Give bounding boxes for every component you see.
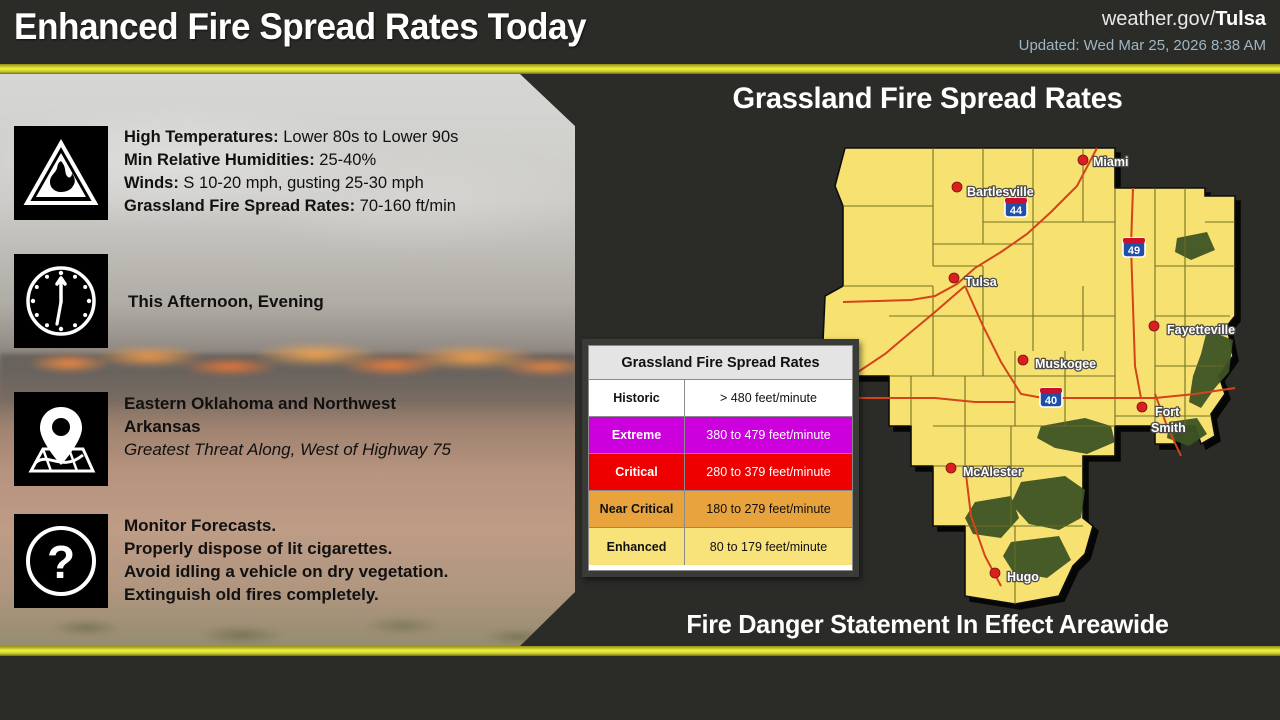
footer-bar: NATIONAL WEATHER SERVICE TULSA OKLAHOMA … [0,656,1280,720]
legend-category: Extreme [589,417,685,453]
infographic-root: Enhanced Fire Spread Rates Today weather… [0,0,1280,720]
city-label: Tulsa [965,275,998,289]
legend-category: Enhanced [589,528,685,565]
legend-panel: Grassland Fire Spread Rates Historic > 4… [582,339,859,577]
legend-row: Near Critical 180 to 279 feet/minute [589,491,852,528]
bullet-conditions: High Temperatures: Lower 80s to Lower 90… [14,126,458,220]
condition-value: 25-40% [315,151,376,169]
site-url-office: Tulsa [1215,8,1266,30]
header-bar: Enhanced Fire Spread Rates Today weather… [0,0,1280,64]
updated-timestamp: Updated: Wed Mar 25, 2026 8:38 AM [1019,37,1266,54]
svg-text:44: 44 [1010,205,1023,217]
question-mark-icon: ? [14,514,108,608]
condition-row: Min Relative Humidities: 25-40% [124,149,458,172]
safety-line: Avoid idling a vehicle on dry vegetation… [124,560,448,583]
condition-row: Grassland Fire Spread Rates: 70-160 ft/m… [124,195,458,218]
map-footer-statement: Fire Danger Statement In Effect Areawide [586,609,1270,640]
map-svg: 44 49 40 [815,126,1275,626]
legend-table: Grassland Fire Spread Rates Historic > 4… [588,345,853,571]
page-title: Enhanced Fire Spread Rates Today [14,6,586,48]
city-label: Fayetteville [1167,323,1235,337]
legend-category: Near Critical [589,491,685,527]
condition-label: Grassland Fire Spread Rates: [124,197,355,215]
condition-row: High Temperatures: Lower 80s to Lower 90… [124,126,458,149]
city-label: Fort [1155,405,1180,419]
site-url-prefix: weather.gov/ [1102,8,1215,30]
bullet-safety: ? Monitor Forecasts. Properly dispose of… [14,514,448,608]
city-label: Miami [1093,155,1128,169]
map-pin-icon [14,392,108,486]
legend-value: 380 to 479 feet/minute [685,417,852,453]
legend-row: Extreme 380 to 479 feet/minute [589,417,852,454]
safety-line: Properly dispose of lit cigarettes. [124,537,448,560]
interstate-shield-44: 44 [1005,198,1027,217]
location-note: Greatest Threat Along, West of Highway 7… [124,438,451,461]
safety-line: Extinguish old fires completely. [124,583,448,606]
bullet-timing: This Afternoon, Evening [14,254,324,348]
condition-row: Winds: S 10-20 mph, gusting 25-30 mph [124,172,458,195]
condition-value: Lower 80s to Lower 90s [279,128,459,146]
clock-icon [14,254,108,348]
map-title: Grassland Fire Spread Rates [586,82,1270,116]
divider-top [0,64,1280,74]
legend-value: 280 to 379 feet/minute [685,454,852,490]
forecast-map: 44 49 40 [815,126,1275,626]
svg-text:40: 40 [1045,395,1057,407]
legend-row: Enhanced 80 to 179 feet/minute [589,528,852,565]
legend-category: Critical [589,454,685,490]
interstate-shield-40: 40 [1040,388,1062,407]
timing-text-block: This Afternoon, Evening [128,290,324,313]
timing-label: This Afternoon, Evening [128,290,324,313]
site-url: weather.gov/Tulsa [1102,8,1266,31]
safety-line: Monitor Forecasts. [124,514,448,537]
svg-text:?: ? [47,536,75,588]
legend-row: Critical 280 to 379 feet/minute [589,454,852,491]
city-label: Muskogee [1035,357,1096,371]
location-line-1: Eastern Oklahoma and Northwest [124,392,451,415]
left-photo-panel: High Temperatures: Lower 80s to Lower 90… [0,74,575,646]
legend-value: 80 to 179 feet/minute [685,528,852,565]
conditions-text-block: High Temperatures: Lower 80s to Lower 90… [124,126,458,218]
condition-label: Winds: [124,174,179,192]
city-label: Bartlesville [967,185,1034,199]
city-label: McAlester [963,465,1023,479]
legend-value: > 480 feet/minute [685,380,852,416]
city-label: Smith [1151,421,1186,435]
interstate-shield-49: 49 [1123,238,1145,257]
location-line-2: Arkansas [124,415,451,438]
condition-value: S 10-20 mph, gusting 25-30 mph [179,174,424,192]
bullet-location: Eastern Oklahoma and Northwest Arkansas … [14,392,451,486]
legend-value: 180 to 279 feet/minute [685,491,852,527]
fire-hazard-triangle-icon [14,126,108,220]
condition-label: High Temperatures: [124,128,279,146]
legend-title: Grassland Fire Spread Rates [589,346,852,380]
safety-text-block: Monitor Forecasts. Properly dispose of l… [124,514,448,606]
condition-label: Min Relative Humidities: [124,151,315,169]
divider-bottom [0,646,1280,656]
city-label: Hugo [1007,570,1039,584]
legend-category: Historic [589,380,685,416]
location-text-block: Eastern Oklahoma and Northwest Arkansas … [124,392,451,461]
legend-row: Historic > 480 feet/minute [589,380,852,417]
condition-value: 70-160 ft/min [355,197,456,215]
svg-text:49: 49 [1128,245,1140,257]
